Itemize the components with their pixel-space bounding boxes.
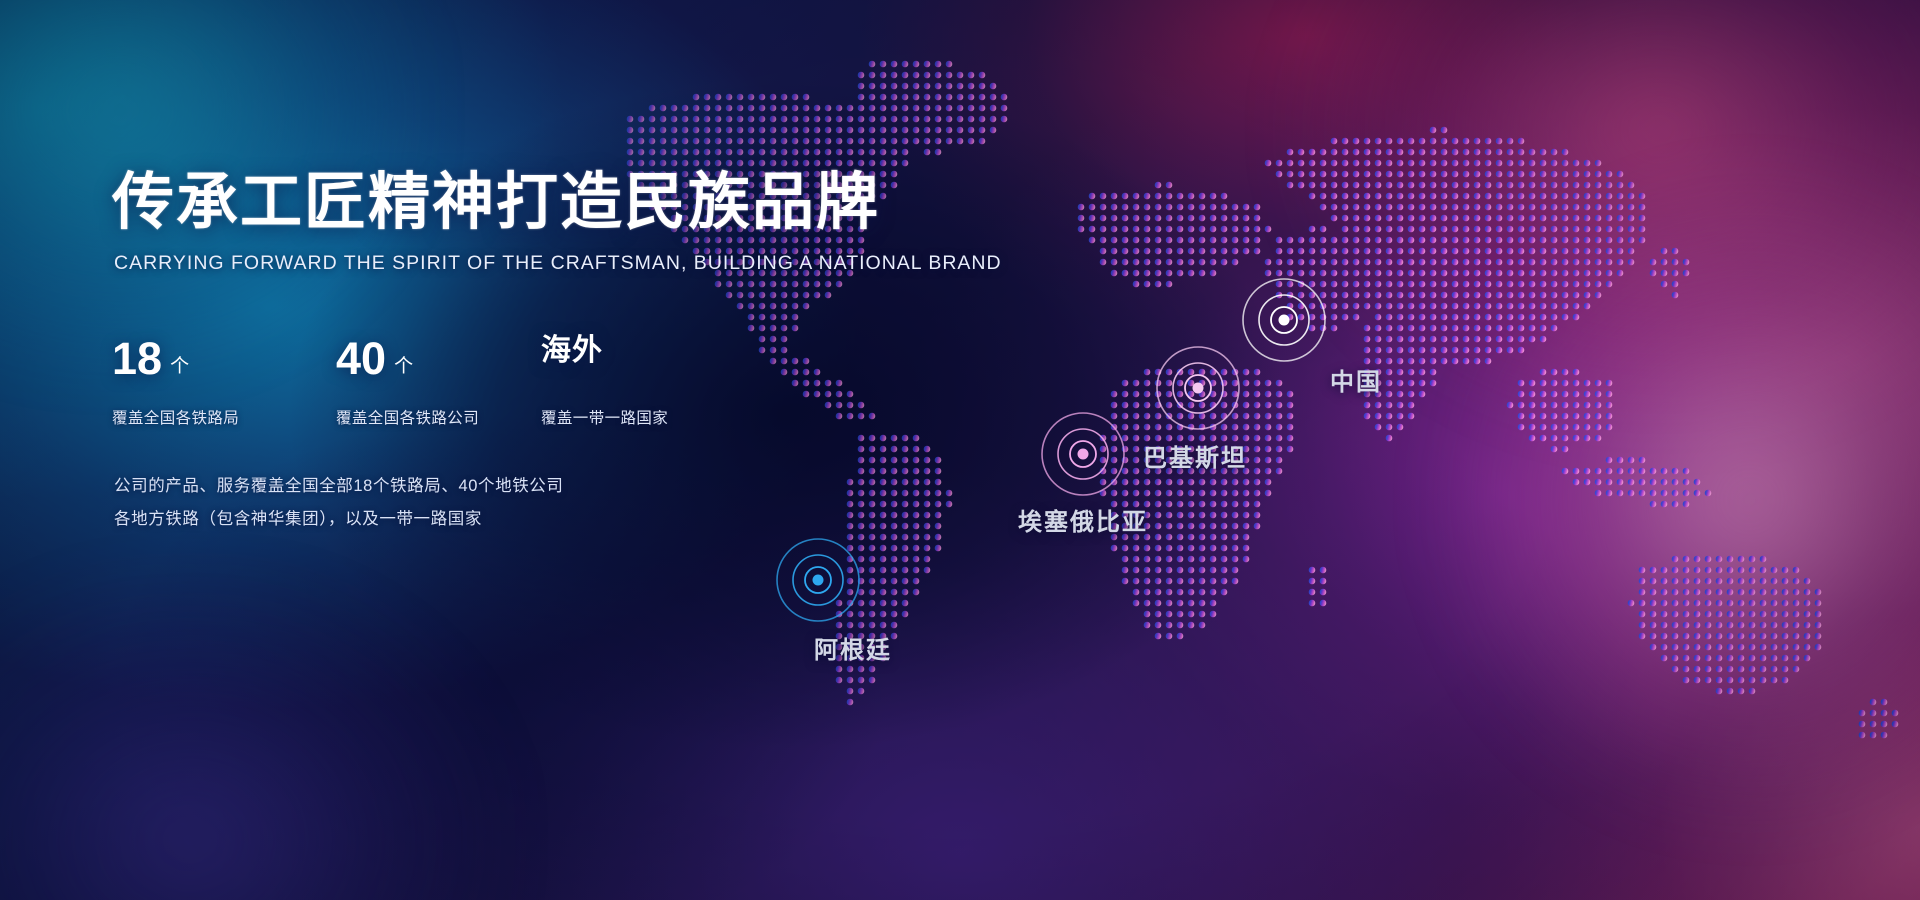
marker-rings-icon — [758, 520, 878, 640]
hero-banner: 中国巴基斯坦埃塞俄比亚阿根廷 传承工匠精神打造民族品牌 CARRYING FOR… — [0, 0, 1920, 900]
map-marker-label-china: 中国 — [1330, 362, 1382, 397]
description-paragraph: 公司的产品、服务覆盖全国全部18个铁路局、40个地铁公司 各地方铁路（包含神华集… — [114, 470, 564, 536]
glow-right — [1440, 180, 1920, 820]
stat-value: 18 — [112, 336, 162, 381]
stat-label: 覆盖全国各铁路公司 — [336, 406, 541, 428]
marker-rings-icon — [1023, 394, 1143, 514]
map-marker-ethiopia[interactable]: 埃塞俄比亚 — [1023, 394, 1143, 514]
stat-item-0: 18个覆盖全国各铁路局 — [112, 336, 336, 428]
description-line-2: 各地方铁路（包含神华集团），以及一带一路国家 — [114, 503, 564, 536]
stat-item-1: 40个覆盖全国各铁路公司 — [336, 336, 541, 428]
stat-unit: 个 — [394, 351, 413, 378]
map-marker-label-ethiopia: 埃塞俄比亚 — [1018, 502, 1148, 537]
stat-item-2: 海外覆盖一带一路国家 — [541, 336, 668, 428]
glow-bottom-left — [0, 580, 500, 900]
stat-value-row: 18个 — [112, 336, 336, 390]
map-marker-pakistan[interactable]: 巴基斯坦 — [1138, 328, 1258, 448]
stats-row: 18个覆盖全国各铁路局40个覆盖全国各铁路公司海外覆盖一带一路国家 — [112, 336, 668, 428]
stat-unit: 个 — [170, 351, 189, 378]
stat-value: 40 — [336, 336, 386, 381]
map-marker-argentina[interactable]: 阿根廷 — [758, 520, 878, 640]
marker-rings-icon — [1138, 328, 1258, 448]
page-title: 传承工匠精神打造民族品牌 — [112, 168, 880, 237]
stat-label: 覆盖一带一路国家 — [541, 406, 668, 428]
stat-value: 海外 — [541, 336, 603, 366]
map-marker-label-argentina: 阿根廷 — [814, 630, 892, 665]
map-marker-label-pakistan: 巴基斯坦 — [1143, 438, 1247, 473]
stat-value-row: 海外 — [541, 336, 668, 390]
page-subtitle: CARRYING FORWARD THE SPIRIT OF THE CRAFT… — [114, 252, 1002, 275]
stat-value-row: 40个 — [336, 336, 541, 390]
stat-label: 覆盖全国各铁路局 — [112, 406, 336, 428]
description-line-1: 公司的产品、服务覆盖全国全部18个铁路局、40个地铁公司 — [114, 470, 564, 503]
